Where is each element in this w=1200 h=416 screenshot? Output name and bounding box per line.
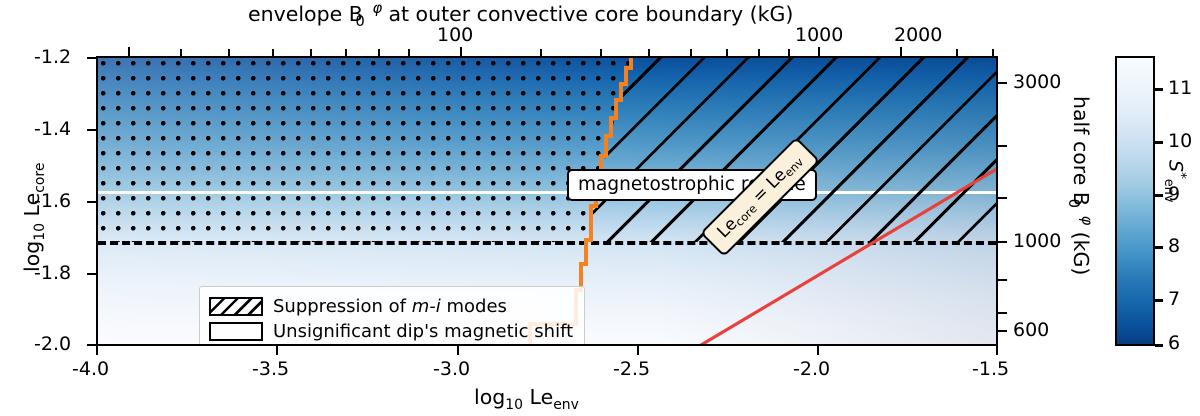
x-tick-label-n1-5: -1.5	[972, 358, 1009, 380]
top-tick-label-100: 100	[437, 24, 473, 46]
x-tick-label-n3-5: -3.5	[252, 358, 289, 380]
right-tick-label-600: 600	[1013, 319, 1049, 341]
colorbar-tick-label-7: 7	[1168, 288, 1180, 310]
x-tick-label-n2-5: -2.5	[613, 358, 650, 380]
colorbar-tick-label-11: 11	[1168, 77, 1192, 99]
top-axis-title: envelope B0φ at outer convective core bo…	[248, 2, 793, 26]
colorbar-tick-label-8: 8	[1168, 235, 1180, 257]
x-axis-title: log10 Leenv	[474, 385, 579, 413]
colorbar[interactable]	[1115, 56, 1155, 346]
top-tick-label-2000: 2000	[894, 24, 942, 46]
x-tick-label-n2-0: -2.0	[793, 358, 830, 380]
legend-item-unsignificant-dip: Unsignificant dip's magnetic shift	[209, 319, 573, 344]
figure-root: envelope B0φ at outer convective core bo…	[0, 0, 1200, 416]
legend-swatch-blank-icon	[209, 322, 263, 341]
legend: Suppression of m-i modes Unsignificant d…	[199, 286, 585, 346]
colorbar-tick-label-10: 10	[1168, 130, 1192, 152]
plot-area[interactable]: magnetostrophic regime Lecore = Leenv Su…	[96, 56, 998, 346]
legend-label-suppression: Suppression of m-i modes	[273, 296, 507, 317]
x-tick-label-n4-0: -4.0	[72, 358, 109, 380]
legend-item-suppression: Suppression of m-i modes	[209, 294, 573, 319]
top-tick-label-1000: 1000	[795, 24, 843, 46]
y-tick-label-n2-0: -2.0	[34, 333, 71, 355]
y-tick-label-n1-2: -1.2	[34, 46, 71, 68]
x-tick-label-n3-0: -3.0	[433, 358, 470, 380]
y-tick-label-n1-4: -1.4	[34, 118, 71, 140]
right-tick-label-1000: 1000	[1013, 230, 1061, 252]
y-axis-title: log10 Lecore	[20, 163, 48, 272]
right-tick-label-3000: 3000	[1013, 71, 1061, 93]
legend-swatch-diagonal-hatch-icon	[209, 297, 263, 316]
colorbar-tick-label-6: 6	[1168, 332, 1180, 354]
legend-label-unsignificant-dip: Unsignificant dip's magnetic shift	[273, 321, 573, 342]
legend-item-visible-core: Visible core magnetic signature	[209, 344, 573, 346]
colorbar-title: S*env	[1161, 160, 1188, 202]
right-axis-title: half core B0φ (kG)	[1069, 96, 1093, 275]
